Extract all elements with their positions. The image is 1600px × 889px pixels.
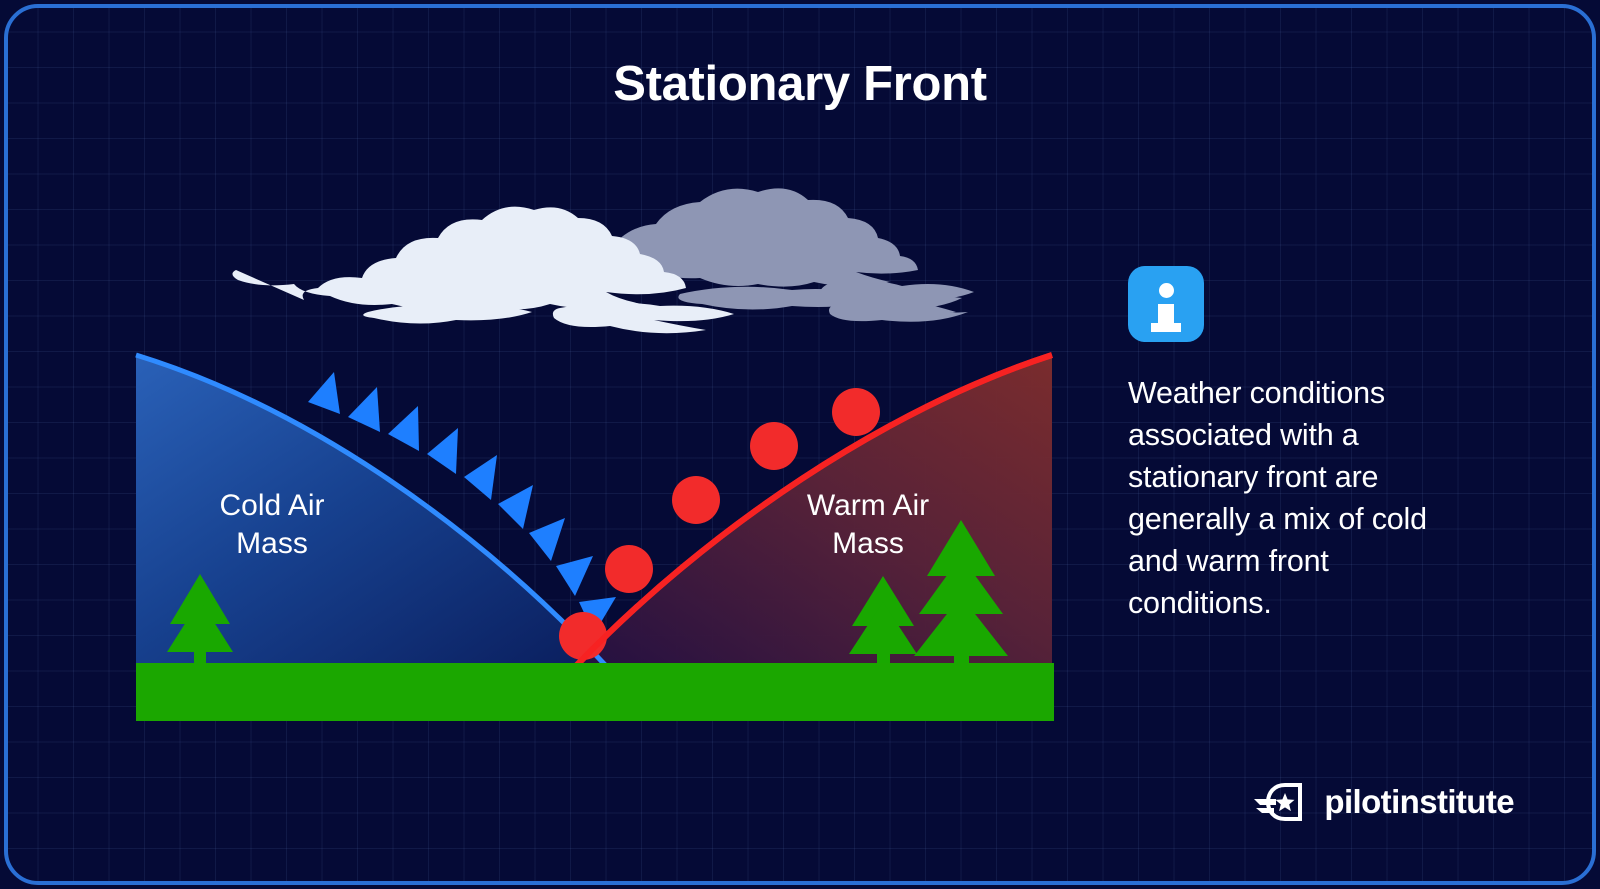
info-icon [1128,266,1204,342]
info-panel: Weather conditions associated with a sta… [1128,266,1488,624]
brand-logo: pilotinstitute [1254,781,1514,823]
winged-star-badge-icon [1254,781,1312,823]
brand-name: pilotinstitute [1324,783,1514,821]
canvas-inner: Stationary Front [8,8,1592,881]
ground-band [136,663,1054,721]
cold-air-mass-label-line1: Cold Air [219,489,324,522]
info-icon-dot [1159,283,1174,298]
cloud-back [608,188,974,321]
warm-air-mass-label-line2: Mass [832,527,904,560]
warm-air-mass-label-line1: Warm Air [807,489,929,522]
info-icon-foot [1151,323,1181,332]
infographic-canvas: Stationary Front [0,0,1600,889]
info-description: Weather conditions associated with a sta… [1128,372,1458,624]
cold-air-mass-label-line2: Mass [236,527,308,560]
